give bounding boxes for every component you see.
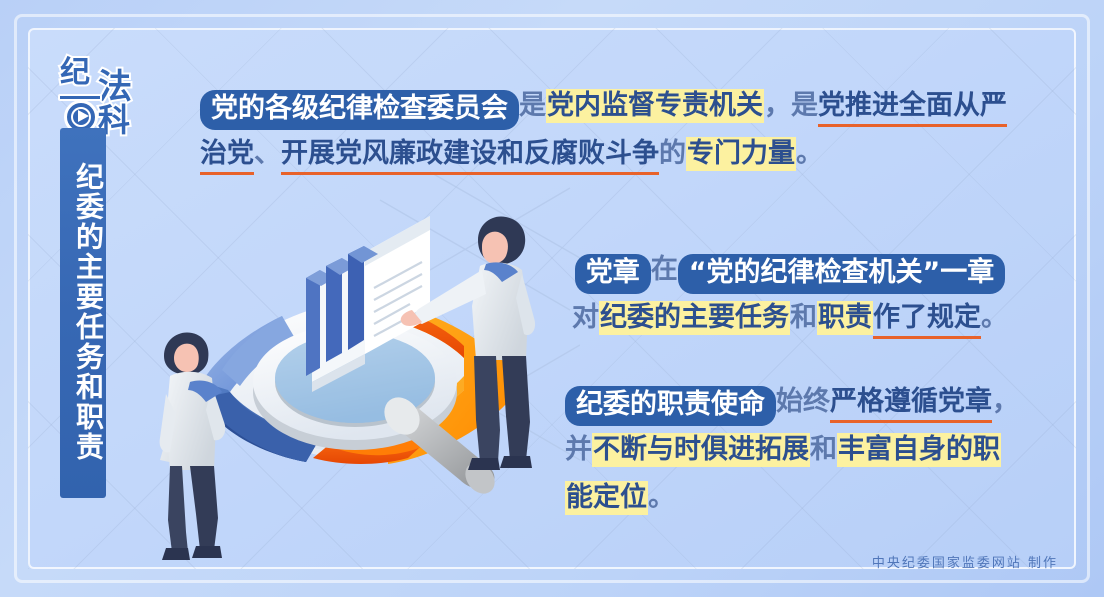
logo-char-ji: 纪 xyxy=(60,58,90,88)
highlight-jiwei-zhuyao-renwu: 纪委的主要任务 xyxy=(599,301,790,335)
pill-dang-de-ge-ji: 党的各级纪律检查委员会 xyxy=(200,90,519,130)
underline-yange-zunxun-dangzhang: 严格遵循党章 xyxy=(830,386,992,423)
p3l2-plain-2: 和 xyxy=(810,434,837,465)
p2l2-plain-1: 对 xyxy=(572,302,599,333)
vertical-title: 纪委的主要任务和职责 xyxy=(60,128,106,498)
p3l1-plain-1: 始终 xyxy=(776,386,830,417)
underline-kai-zhan-dang-feng: 开展党风廉政建设和反腐败斗争 xyxy=(281,138,659,175)
paragraph-2-line-1: 党章在“党的纪律检查机关”一章 xyxy=(565,246,1015,294)
p2l2-plain-2: 和 xyxy=(790,302,817,333)
paragraph-1-line-2: 治党、开展党风廉政建设和反腐败斗争的专门力量。 xyxy=(200,130,1062,178)
p3l1-plain-2: ， xyxy=(992,386,1019,417)
p2l2-plain-3: 。 xyxy=(981,302,1008,333)
p1l1-plain-1: 是 xyxy=(519,90,546,121)
underline-zuo-le-gui-ding: 作了规定 xyxy=(873,302,981,339)
footer-credit: 中央纪委国家监委网站 制作 xyxy=(872,552,1058,571)
pants-right xyxy=(474,356,500,462)
p1l2-plain-1: 、 xyxy=(254,138,281,169)
paragraph-3-line-3: 能定位。 xyxy=(565,474,1017,522)
highlight-zhi-ze: 职责 xyxy=(817,301,873,335)
highlight-buduan-yushijujin: 不断与时俱进拓展 xyxy=(592,433,810,467)
poster-root: 纪 法 科 纪委的主要任务和职责 xyxy=(0,0,1104,597)
brand-logo: 纪 法 科 xyxy=(58,52,166,132)
p2l1-plain-1: 在 xyxy=(651,254,678,285)
highlight-dang-nei-jian-du: 党内监督专责机关 xyxy=(546,89,764,123)
p1l2-plain-2: 的 xyxy=(659,138,686,169)
highlight-fengfu-zishen: 丰富自身的职 xyxy=(837,433,1001,467)
underline-dang-tui-jin: 党推进全面从严 xyxy=(818,90,1007,127)
p1l2-plain-3: 。 xyxy=(796,138,823,169)
p3l2-plain-1: 并 xyxy=(565,434,592,465)
face-right xyxy=(482,232,508,264)
illustration xyxy=(130,170,580,560)
paragraph-3-line-1: 纪委的职责使命始终严格遵循党章， xyxy=(565,378,1017,426)
paragraph-3-line-2: 并不断与时俱进拓展和丰富自身的职 xyxy=(565,426,1017,474)
highlight-neng-ding-wei: 能定位 xyxy=(565,481,648,515)
pill-jiwei-zhize-shiming: 纪委的职责使命 xyxy=(565,386,776,426)
pill-dang-zhang: 党章 xyxy=(575,254,651,294)
p3l3-plain-1: 。 xyxy=(648,482,675,513)
p1l1-plain-2: ，是 xyxy=(764,90,818,121)
paragraph-3: 纪委的职责使命始终严格遵循党章， 并不断与时俱进拓展和丰富自身的职 能定位。 xyxy=(565,378,1017,522)
paragraph-1-line-1: 党的各级纪律检查委员会是党内监督专责机关，是党推进全面从严 xyxy=(200,82,1062,130)
logo-char-fa: 法 xyxy=(98,70,132,104)
face-left xyxy=(174,344,199,372)
paragraph-2-line-2: 对纪委的主要任务和职责作了规定。 xyxy=(565,294,1015,342)
pants-left xyxy=(168,466,188,552)
underline-zhi-dang: 治党 xyxy=(200,138,254,175)
highlight-zhuan-men-li-liang: 专门力量 xyxy=(686,137,796,171)
paragraph-2: 党章在“党的纪律检查机关”一章 对纪委的主要任务和职责作了规定。 xyxy=(565,246,1015,342)
pill-dang-de-jilv-jiancha-jiguan: “党的纪律检查机关”一章 xyxy=(678,254,1006,294)
paragraph-1: 党的各级纪律检查委员会是党内监督专责机关，是党推进全面从严 治党、开展党风廉政建… xyxy=(200,82,1062,178)
